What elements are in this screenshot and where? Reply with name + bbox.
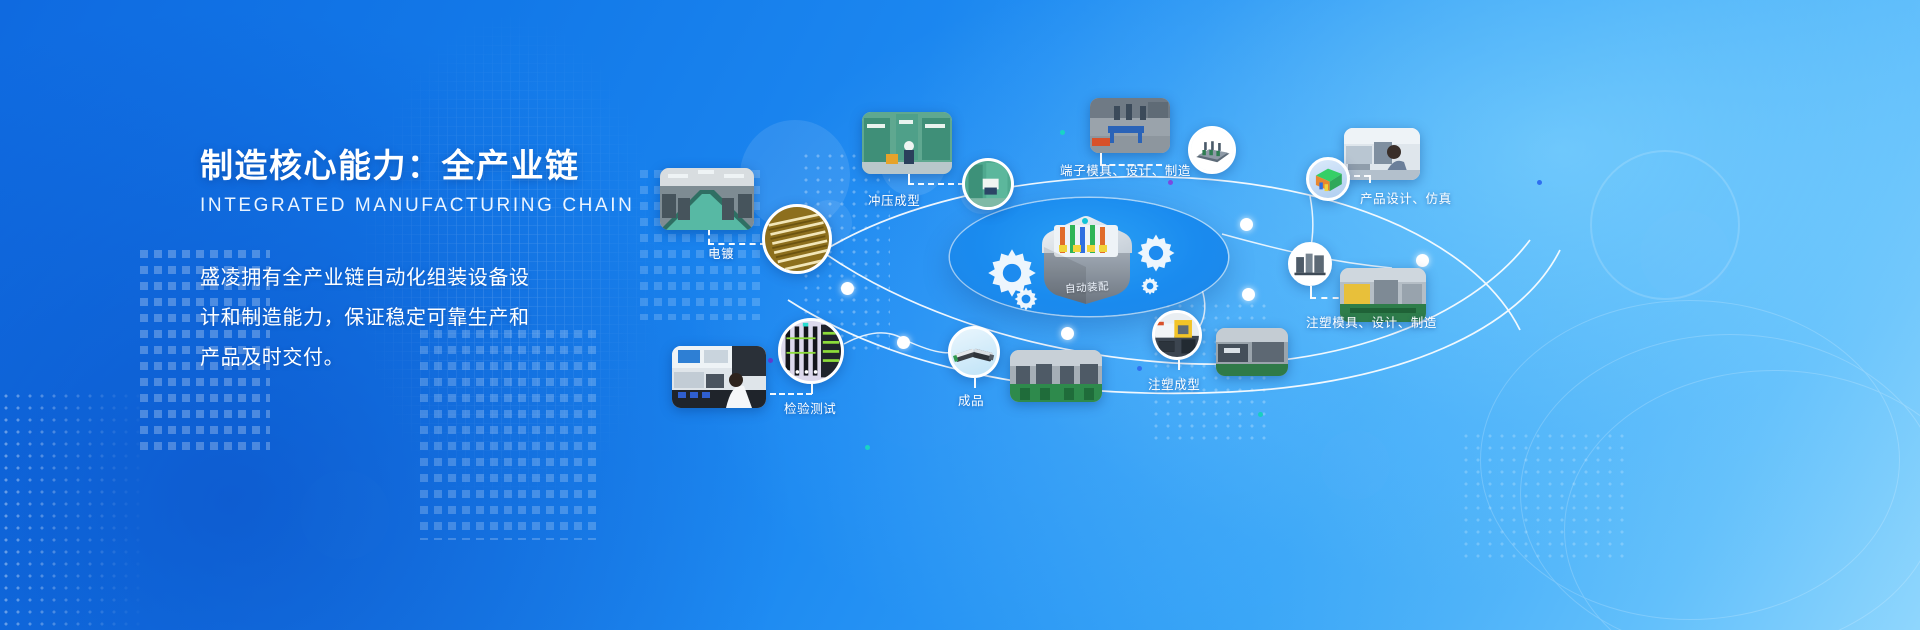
connector-injection-molding-v xyxy=(1178,360,1180,370)
orbit-dot-4 xyxy=(841,282,854,295)
orbit-paths xyxy=(0,0,1920,630)
connector-finished-product-v xyxy=(974,378,976,388)
assembly-machine-label: 自动装配 xyxy=(1065,278,1110,296)
node-injection-molding[interactable] xyxy=(1152,310,1202,360)
tile-stamping[interactable] xyxy=(862,112,952,174)
label-terminal-mold: 端子模具、设计、制造 xyxy=(1060,160,1191,179)
orbit-dot-5 xyxy=(1242,288,1255,301)
label-product-design: 产品设计、仿真 xyxy=(1360,188,1452,207)
label-finished-product: 成品 xyxy=(958,390,984,409)
label-injection-molding: 注塑成型 xyxy=(1148,374,1200,393)
connector-inspection-h xyxy=(770,393,812,395)
label-inspection-test: 检验测试 xyxy=(784,398,836,417)
node-injection-mold[interactable] xyxy=(1288,242,1332,286)
manufacturing-chain-banner: 制造核心能力：全产业链 INTEGRATED MANUFACTURING CHA… xyxy=(0,0,1920,630)
node-terminal-mold[interactable] xyxy=(1188,126,1236,174)
tile-terminal-mold[interactable] xyxy=(1090,98,1170,153)
connector-electroplating-v xyxy=(708,230,710,244)
tile-electroplating[interactable] xyxy=(660,168,754,230)
node-inspection-test[interactable] xyxy=(778,318,844,384)
label-electroplating: 电镀 xyxy=(708,243,734,262)
connector-stamping-h xyxy=(908,183,964,185)
orbit-dot-1 xyxy=(1240,218,1253,231)
node-electroplating[interactable] xyxy=(762,204,832,274)
tile-injection-molding[interactable] xyxy=(1216,328,1288,376)
orbit-dot-6 xyxy=(1416,254,1429,267)
node-stamping[interactable] xyxy=(962,158,1014,210)
tile-product-design[interactable] xyxy=(1344,128,1420,180)
tile-inspection-test[interactable] xyxy=(672,346,766,408)
orbit-dot-2 xyxy=(1061,327,1074,340)
connector-product-design-v xyxy=(1369,175,1371,183)
node-finished-product[interactable] xyxy=(948,326,1000,378)
label-injection-mold: 注塑模具、设计、制造 xyxy=(1306,312,1437,331)
label-stamping: 冲压成型 xyxy=(868,190,920,209)
orbit-dot-3 xyxy=(897,336,910,349)
manufacturing-chain-diagram: 自动装配 xyxy=(0,0,1920,630)
tile-assembly-line[interactable] xyxy=(1010,350,1102,402)
node-product-design[interactable] xyxy=(1306,157,1350,201)
